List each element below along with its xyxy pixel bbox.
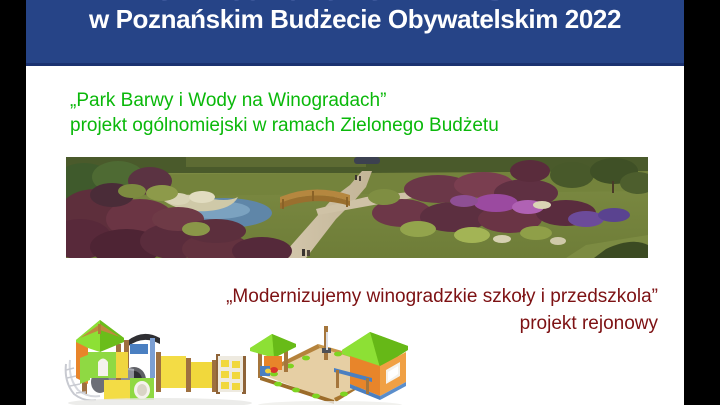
project-two-title: „Modernizujemy winogradzkie szkoły i prz…	[26, 283, 658, 310]
project-one-heading: „Park Barwy i Wody na Winogradach” proje…	[70, 88, 499, 138]
page-title: w Poznańskim Budżecie Obywatelskim 2022	[26, 4, 684, 35]
title-band: Zwyciezające projekty na Winogradach w P…	[26, 0, 684, 66]
slide-canvas: Zwyciezające projekty na Winogradach w P…	[26, 0, 684, 405]
project-two-heading: „Modernizujemy winogradzkie szkoły i prz…	[26, 283, 658, 337]
project-one-subtitle: projekt ogólnomiejski w ramach Zielonego…	[70, 113, 499, 138]
park-landscape-illustration	[66, 157, 648, 258]
project-two-subtitle: projekt rejonowy	[26, 310, 658, 337]
park-landscape-image	[66, 157, 648, 258]
letterbox-bar-left	[0, 0, 26, 405]
slide-root: Zwyciezające projekty na Winogradach w P…	[0, 0, 720, 405]
project-one-title: „Park Barwy i Wody na Winogradach”	[70, 88, 499, 113]
letterbox-bar-right	[684, 0, 720, 405]
